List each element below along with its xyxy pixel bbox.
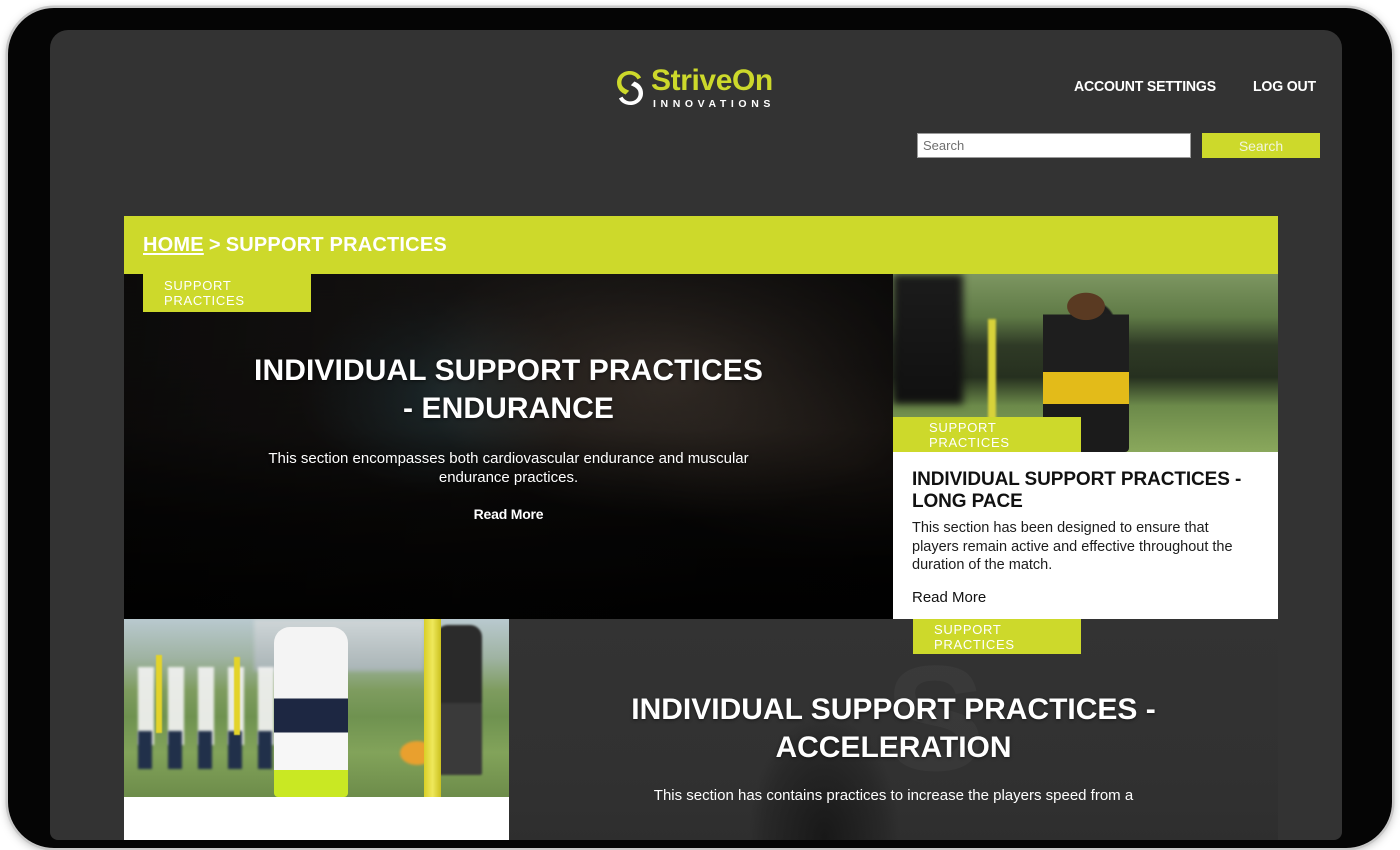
striveon-s-mark-icon (617, 71, 643, 105)
breadcrumb-separator: > (209, 234, 221, 257)
cards-row-top: SUPPORT PRACTICES INDIVIDUAL SUPPORT PRA… (124, 274, 1278, 619)
card-acceleration[interactable]: S SUPPORT PRACTICES INDIVIDUAL SUPPORT P… (509, 619, 1278, 840)
brand-logo[interactable]: StriveOn INNOVATIONS (617, 66, 775, 110)
agility-foreground-player (274, 627, 348, 797)
tablet-device-frame: StriveOn INNOVATIONS ACCOUNT SETTINGS LO… (8, 8, 1392, 848)
endurance-badge: SUPPORT PRACTICES (143, 274, 311, 312)
search-area: Search (917, 133, 1320, 158)
agility-coach-figure (436, 625, 482, 775)
long-pace-blurred-figure (893, 274, 963, 404)
acceleration-description: This section has contains practices to i… (509, 786, 1278, 806)
breadcrumb-current: SUPPORT PRACTICES (226, 234, 447, 257)
long-pace-badge: SUPPORT PRACTICES (893, 417, 1081, 452)
brand-wordmark: StriveOn INNOVATIONS (651, 66, 775, 110)
acceleration-title: INDIVIDUAL SUPPORT PRACTICES - ACCELERAT… (509, 691, 1278, 767)
long-pace-image: SUPPORT PRACTICES (893, 274, 1278, 452)
agility-hurdle-left-icon (156, 655, 162, 733)
cards-row-bottom: SUPPORT PRACTICES S SUPPORT PRACTICES IN… (124, 619, 1278, 840)
card-endurance[interactable]: SUPPORT PRACTICES INDIVIDUAL SUPPORT PRA… (124, 274, 893, 619)
endurance-description: This section encompasses both cardiovasc… (124, 449, 893, 488)
search-input[interactable] (917, 133, 1191, 158)
log-out-link[interactable]: LOG OUT (1253, 78, 1316, 95)
card-agility-photo[interactable]: SUPPORT PRACTICES (124, 619, 509, 840)
long-pace-read-more-link[interactable]: Read More (912, 589, 986, 606)
brand-name: StriveOn (651, 66, 775, 96)
breadcrumb: HOME > SUPPORT PRACTICES (124, 216, 1278, 274)
content-area: HOME > SUPPORT PRACTICES SUPPORT PRACTIC… (124, 216, 1278, 840)
long-pace-body: INDIVIDUAL SUPPORT PRACTICES - LONG PACE… (893, 452, 1278, 607)
tablet-screen: StriveOn INNOVATIONS ACCOUNT SETTINGS LO… (50, 30, 1342, 840)
breadcrumb-home-link[interactable]: HOME (143, 234, 204, 257)
long-pace-description: This section has been designed to ensure… (912, 519, 1259, 575)
agility-photo-bg (124, 619, 509, 797)
brand-tagline: INNOVATIONS (651, 99, 775, 110)
agility-hurdle-mid-icon (234, 657, 240, 735)
account-settings-link[interactable]: ACCOUNT SETTINGS (1074, 78, 1216, 95)
agility-training-pole (424, 619, 441, 801)
endurance-read-more-link[interactable]: Read More (474, 506, 544, 522)
endurance-title: INDIVIDUAL SUPPORT PRACTICES - ENDURANCE (124, 352, 893, 428)
card-long-pace[interactable]: SUPPORT PRACTICES INDIVIDUAL SUPPORT PRA… (893, 274, 1278, 619)
acceleration-badge: SUPPORT PRACTICES (913, 619, 1081, 654)
long-pace-title: INDIVIDUAL SUPPORT PRACTICES - LONG PACE (912, 469, 1259, 513)
top-navigation: ACCOUNT SETTINGS LOG OUT (1074, 78, 1320, 95)
agility-card-white-strip (124, 797, 509, 840)
site-header: StriveOn INNOVATIONS ACCOUNT SETTINGS LO… (50, 30, 1342, 216)
search-button[interactable]: Search (1202, 133, 1320, 158)
acceleration-body: INDIVIDUAL SUPPORT PRACTICES - ACCELERAT… (509, 619, 1278, 806)
